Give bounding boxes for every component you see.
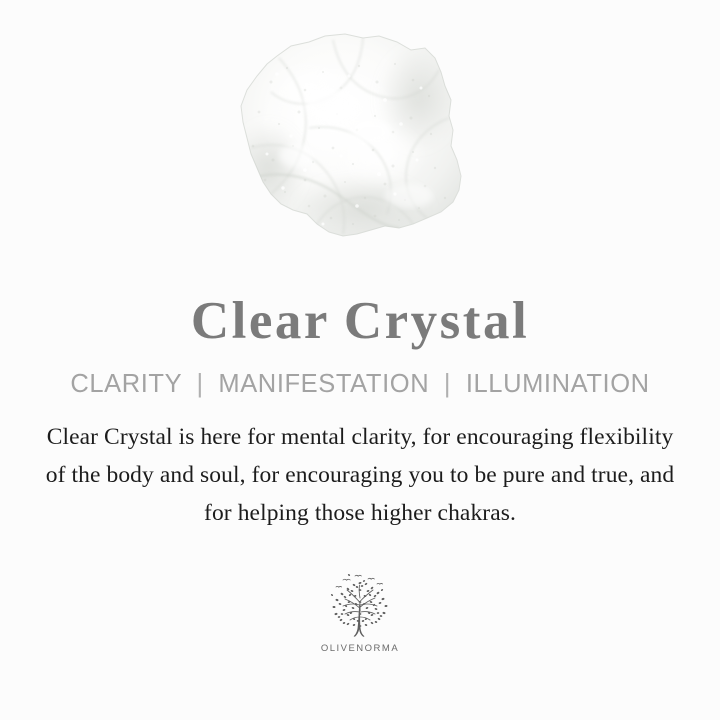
title-word-2: Crystal	[344, 295, 529, 348]
product-info-card: Clear Crystal CLARITY | MANIFESTATION | …	[0, 0, 720, 720]
brand-wordmark: OLIVENORMA	[321, 644, 399, 654]
product-image-area	[0, 0, 720, 292]
keyword-manifestation: MANIFESTATION	[218, 370, 429, 398]
product-description: Clear Crystal is here for mental clarity…	[40, 418, 680, 532]
page-title: Clear Crystal	[191, 292, 529, 350]
keyword-illumination: ILLUMINATION	[466, 370, 650, 398]
clear-crystal-image	[213, 28, 483, 273]
keyword-clarity: CLARITY	[70, 370, 181, 398]
keyword-separator-2: |	[437, 372, 458, 398]
brand-logo: OLIVENORMA	[300, 571, 420, 654]
title-word-1: Clear	[191, 295, 330, 348]
keyword-separator-1: |	[189, 372, 210, 398]
keyword-list: CLARITY | MANIFESTATION | ILLUMINATION	[70, 372, 649, 398]
crystal-illustration	[213, 28, 483, 273]
olive-tree-icon	[318, 571, 402, 643]
